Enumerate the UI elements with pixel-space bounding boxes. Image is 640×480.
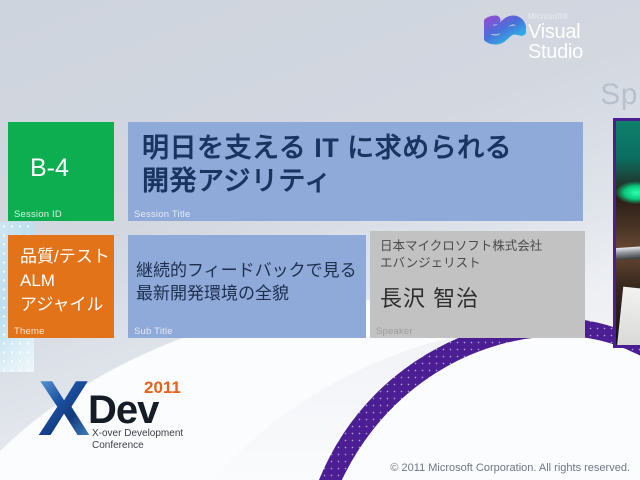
speaker-name: 長沢 智治 — [380, 281, 479, 313]
theme-block: 品質/テスト ALM アジャイル Theme — [8, 235, 114, 338]
photo-subject-shirt — [617, 287, 640, 348]
session-title-line2: 開発アジリティ — [142, 165, 575, 198]
session-title-block: 明日を支える IT に求められる 開発アジリティ Session Title — [128, 122, 583, 221]
session-id-caption: Session ID — [14, 209, 62, 220]
speaker-block: 日本マイクロソフト株式会社 エバンジェリスト 長沢 智治 Speaker — [370, 231, 585, 338]
speaker-organization: 日本マイクロソフト株式会社 エバンジェリスト — [380, 238, 581, 271]
presentation-slide: Microsoft® Visual Studio Sp B-4 Session … — [0, 0, 640, 480]
speaker-caption: Speaker — [376, 326, 413, 337]
theme-line1: 品質/テスト — [20, 245, 110, 269]
sub-title-line1: 継続的フィードバックで見る — [136, 259, 362, 282]
sub-title-line2: 最新開発環境の全貌 — [136, 282, 362, 305]
theme-line2: ALM — [20, 269, 110, 293]
sub-title-value: 継続的フィードバックで見る 最新開発環境の全貌 — [136, 259, 362, 305]
theme-value: 品質/テスト ALM アジャイル — [20, 245, 110, 317]
session-id-block: B-4 Session ID — [8, 122, 114, 221]
xdev-tagline: X-over Development Conference — [92, 428, 183, 451]
copyright-footer: © 2011 Microsoft Corporation. All rights… — [390, 462, 630, 474]
theme-caption: Theme — [14, 326, 45, 337]
speaker-photo-frame — [613, 118, 640, 348]
microphone-icon — [613, 245, 640, 260]
session-title-caption: Session Title — [134, 209, 190, 220]
speaker-org-line1: 日本マイクロソフト株式会社 — [380, 238, 581, 255]
session-title-line1: 明日を支える IT に求められる — [142, 132, 575, 165]
xdev-conference-logo: X Dev 2011 X-over Development Conference — [22, 372, 212, 452]
visual-studio-infinity-icon — [484, 14, 526, 46]
xdev-tagline-line1: X-over Development — [92, 428, 183, 440]
ghost-sp-text: Sp — [600, 78, 638, 112]
xdev-tagline-line2: Conference — [92, 440, 183, 452]
sub-title-caption: Sub Title — [134, 326, 173, 337]
theme-line3: アジャイル — [20, 293, 110, 317]
vs-microsoft-label: Microsoft® — [528, 13, 634, 21]
visual-studio-logo: Microsoft® Visual Studio — [484, 14, 634, 50]
xdev-year: 2011 — [144, 378, 181, 398]
speaker-org-line2: エバンジェリスト — [380, 255, 581, 272]
speaker-photo — [616, 121, 640, 345]
vs-product-name: Visual Studio — [528, 22, 634, 62]
session-title-value: 明日を支える IT に求められる 開発アジリティ — [142, 132, 575, 198]
session-id-value: B-4 — [30, 154, 69, 183]
sub-title-block: 継続的フィードバックで見る 最新開発環境の全貌 Sub Title — [128, 235, 366, 338]
